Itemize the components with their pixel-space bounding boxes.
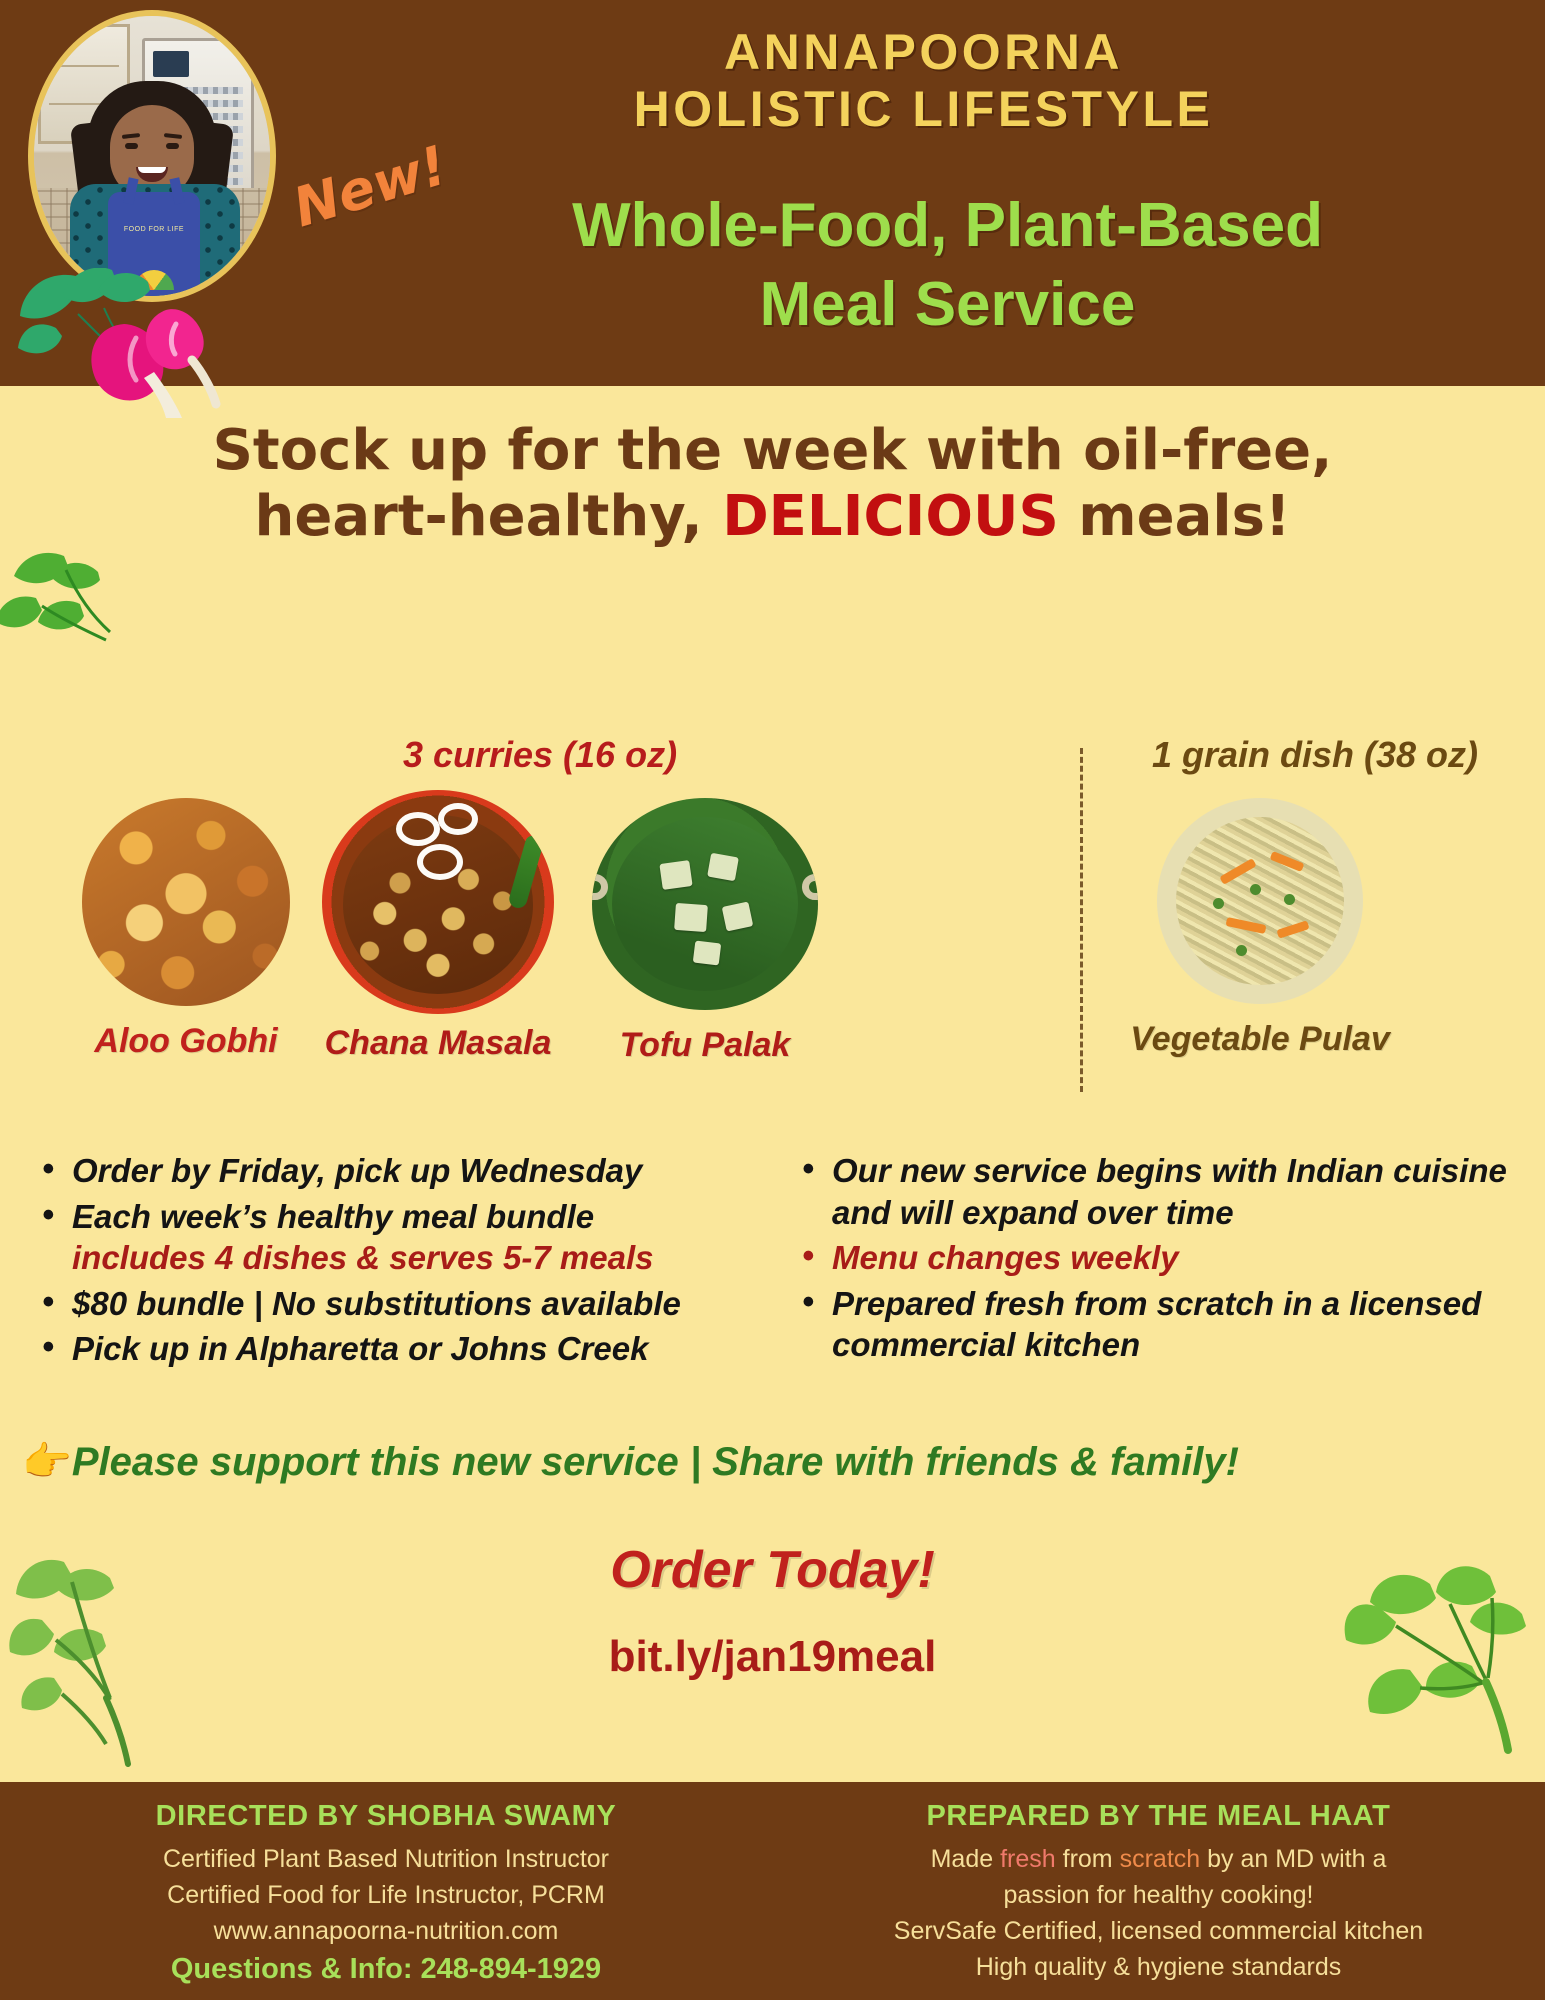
- made-mid: from: [1056, 1845, 1120, 1873]
- dish-photo-chana-masala: [322, 790, 554, 1014]
- pointing-right-hand-icon: 👉: [22, 1440, 72, 1484]
- footer-right-line-3: ServSafe Certified, licensed commercial …: [772, 1913, 1545, 1949]
- cilantro-leaf-icon: [6, 1548, 196, 1768]
- brand-line-1: ANNAPOORNA: [330, 24, 1517, 81]
- brand-title: ANNAPOORNA HOLISTIC LIFESTYLE: [330, 24, 1517, 138]
- word-fresh: fresh: [1000, 1845, 1056, 1873]
- tagline-line-2: heart-healthy, DELICIOUS meals!: [0, 484, 1545, 550]
- onion-ring-icon: [417, 844, 463, 880]
- header-banner: FOOD FOR LIFE ANNAPOORNA HOLISTIC LIFEST…: [0, 0, 1545, 386]
- left-bullet-list: Order by Friday, pick up Wednesday Each …: [30, 1150, 720, 1370]
- footer-right-line-1: Made fresh from scratch by an MD with a: [772, 1841, 1545, 1877]
- curries-section-label: 3 curries (16 oz): [330, 734, 750, 776]
- footer-right-line-4: High quality & hygiene standards: [772, 1949, 1545, 1985]
- footer-left-line-1: Certified Plant Based Nutrition Instruct…: [0, 1841, 772, 1877]
- pan-handle-icon: [592, 874, 608, 900]
- dish-photo-aloo-gobhi: [82, 798, 290, 1006]
- bullet-text: Order by Friday, pick up Wednesday: [72, 1152, 642, 1189]
- list-item: Prepared fresh from scratch in a license…: [790, 1283, 1510, 1366]
- bullet-subline: includes 4 dishes & serves 5-7 meals: [72, 1237, 720, 1279]
- tagline-line-1: Stock up for the week with oil-free,: [0, 418, 1545, 484]
- apron-label: FOOD FOR LIFE: [108, 226, 200, 233]
- grain-section-label: 1 grain dish (38 oz): [1105, 734, 1525, 776]
- pan-handle-icon: [802, 874, 818, 900]
- dish-label: Aloo Gobhi: [94, 1022, 277, 1061]
- service-line-2: Meal Service: [380, 265, 1515, 344]
- bullet-text: Each week’s healthy meal bundle: [72, 1198, 594, 1235]
- cilantro-leaf-icon: [1340, 1548, 1545, 1768]
- details-left-column: Order by Friday, pick up Wednesday Each …: [30, 1150, 720, 1374]
- tagline-line-2-pre: heart-healthy,: [255, 484, 723, 549]
- radish-icon: [16, 268, 246, 418]
- dish-card-vegetable-pulav: Vegetable Pulav: [1157, 798, 1363, 1004]
- right-bullet-list: Our new service begins with Indian cuisi…: [790, 1150, 1510, 1366]
- dish-card-tofu-palak: Tofu Palak: [592, 798, 818, 1010]
- list-item: Menu changes weekly: [790, 1237, 1510, 1279]
- tagline-line-2-post: meals!: [1059, 484, 1291, 549]
- dish-card-aloo-gobhi: Aloo Gobhi: [82, 798, 290, 1006]
- support-text: Please support this new service | Share …: [72, 1440, 1239, 1484]
- made-prefix: Made: [931, 1845, 1000, 1873]
- tagline: Stock up for the week with oil-free, hea…: [0, 418, 1545, 550]
- footer-right-line-2: passion for healthy cooking!: [772, 1877, 1545, 1913]
- dish-card-chana-masala: Chana Masala: [322, 790, 554, 1014]
- footer-left-line-2: Certified Food for Life Instructor, PCRM: [0, 1877, 772, 1913]
- bullet-text: Pick up in Alpharetta or Johns Creek: [72, 1330, 648, 1367]
- footer-right-column: PREPARED BY THE MEAL HAAT Made fresh fro…: [772, 1800, 1545, 1985]
- support-callout: 👉Please support this new service | Share…: [22, 1438, 1522, 1485]
- tagline-highlight: DELICIOUS: [722, 484, 1059, 549]
- footer-right-heading: PREPARED BY THE MEAL HAAT: [772, 1800, 1545, 1833]
- service-line-1: Whole-Food, Plant-Based: [380, 186, 1515, 265]
- word-scratch: scratch: [1120, 1845, 1201, 1873]
- dish-label: Chana Masala: [325, 1024, 552, 1063]
- dish-photo-tofu-palak: [592, 798, 818, 1010]
- bullet-text: Prepared fresh from scratch in a license…: [832, 1285, 1481, 1364]
- footer-left-heading: DIRECTED BY SHOBHA SWAMY: [0, 1800, 772, 1833]
- service-title: Whole-Food, Plant-Based Meal Service: [380, 186, 1515, 345]
- list-item: $80 bundle | No substitutions available: [30, 1283, 720, 1325]
- cilantro-leaf-icon: [0, 548, 144, 668]
- list-item: Our new service begins with Indian cuisi…: [790, 1150, 1510, 1233]
- cta-heading: Order Today!: [0, 1540, 1545, 1600]
- bullet-text: $80 bundle | No substitutions available: [72, 1285, 681, 1322]
- made-suffix: by an MD with a: [1200, 1845, 1386, 1873]
- footer-phone[interactable]: Questions & Info: 248-894-1929: [0, 1953, 772, 1986]
- order-link[interactable]: bit.ly/jan19meal: [0, 1632, 1545, 1682]
- bullet-text: Our new service begins with Indian cuisi…: [832, 1152, 1507, 1231]
- dish-label: Vegetable Pulav: [1130, 1020, 1390, 1059]
- footer-website[interactable]: www.annapoorna-nutrition.com: [0, 1913, 772, 1949]
- brand-line-2: HOLISTIC LIFESTYLE: [330, 81, 1517, 138]
- list-item: Each week’s healthy meal bundle includes…: [30, 1196, 720, 1279]
- list-item: Order by Friday, pick up Wednesday: [30, 1150, 720, 1192]
- bullet-text: Menu changes weekly: [832, 1239, 1179, 1276]
- avatar: FOOD FOR LIFE: [28, 10, 276, 302]
- dish-photo-vegetable-pulav: [1157, 798, 1363, 1004]
- dish-label: Tofu Palak: [620, 1026, 791, 1065]
- footer-left-column: DIRECTED BY SHOBHA SWAMY Certified Plant…: [0, 1800, 772, 1986]
- dish-gallery: Aloo Gobhi Chana Masala Tofu Palak: [0, 780, 1545, 1100]
- details-right-column: Our new service begins with Indian cuisi…: [790, 1150, 1510, 1370]
- instructor-portrait: FOOD FOR LIFE: [70, 81, 240, 296]
- footer: DIRECTED BY SHOBHA SWAMY Certified Plant…: [0, 1782, 1545, 2000]
- list-item: Pick up in Alpharetta or Johns Creek: [30, 1328, 720, 1370]
